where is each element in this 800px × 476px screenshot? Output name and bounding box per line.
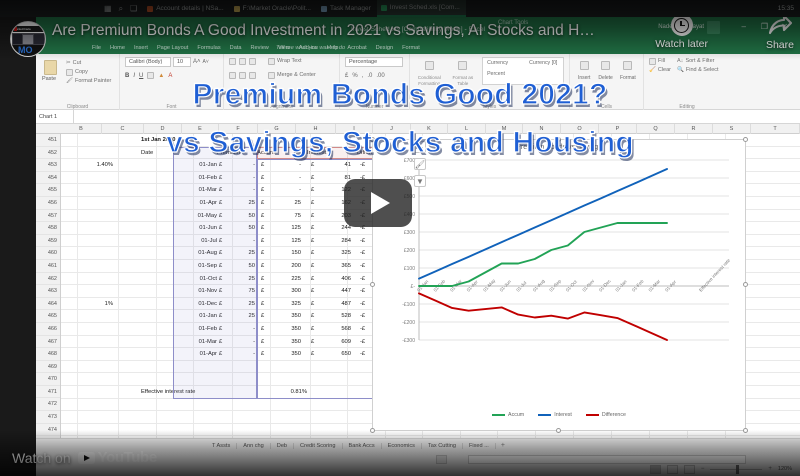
- legend-swatch: [538, 414, 551, 416]
- row-header-455[interactable]: 455: [36, 184, 60, 197]
- chart-y-tick: -£300: [402, 338, 415, 344]
- legend-label: Accum: [508, 412, 524, 418]
- delete-cells-icon[interactable]: [601, 61, 610, 70]
- chart-legend[interactable]: AccumInterestDifference: [373, 412, 745, 418]
- chart-x-tick: 01-May: [482, 278, 497, 293]
- cell-rate-140[interactable]: 1.40%: [79, 159, 113, 172]
- overlay-headline-line2: vs Savings, Stocks and Housing: [0, 126, 800, 160]
- row-header-473[interactable]: 473: [36, 411, 60, 424]
- legend-label: Difference: [602, 412, 626, 418]
- chart-annotation: Effective interest rate: [698, 257, 731, 292]
- selection-range-date-premium: [173, 147, 257, 399]
- insert-cells-icon[interactable]: [580, 61, 589, 70]
- row-header-453[interactable]: 453: [36, 159, 60, 172]
- chart-y-tick: -£200: [402, 320, 415, 326]
- legend-item-interest[interactable]: Interest: [538, 412, 572, 418]
- cell-rate-1[interactable]: 1%: [79, 298, 113, 311]
- chart-canvas: £700£600£500£400£300£200£100£--£100-£200…: [373, 140, 747, 432]
- legend-swatch: [586, 414, 599, 416]
- copy-label: Copy: [75, 68, 88, 77]
- cut-label: Cut: [73, 59, 82, 68]
- row-header-464[interactable]: 464: [36, 298, 60, 311]
- chart-x-tick: 01-Dec: [598, 278, 612, 293]
- chart-y-tick: £200: [404, 248, 415, 254]
- chart-object[interactable]: Premium Bonds vs Savings £700£600£500£40…: [372, 139, 746, 431]
- legend-swatch: [492, 414, 505, 416]
- row-header-465[interactable]: 465: [36, 310, 60, 323]
- row-header-462[interactable]: 462: [36, 273, 60, 286]
- screenshot-stage: Invest Sched.xls [Compatibility Mode] - …: [0, 0, 800, 476]
- legend-item-accum[interactable]: Accum: [492, 412, 524, 418]
- chart-handle-mr[interactable]: [743, 282, 748, 287]
- play-button[interactable]: [344, 179, 412, 227]
- play-triangle-icon: [371, 192, 390, 214]
- chart-y-tick: £-: [411, 284, 416, 290]
- chart-series-difference: [419, 293, 667, 340]
- format-cells-icon[interactable]: [623, 61, 632, 70]
- chart-x-tick: 01-Aug: [532, 278, 546, 293]
- row-header-466[interactable]: 466: [36, 323, 60, 336]
- row-header-459[interactable]: 459: [36, 235, 60, 248]
- chart-filter-icon[interactable]: ▼: [414, 175, 426, 187]
- youtube-top-gradient: [0, 0, 800, 60]
- cut-button[interactable]: ✂Cut: [66, 59, 111, 68]
- row-header-461[interactable]: 461: [36, 260, 60, 273]
- row-header-472[interactable]: 472: [36, 398, 60, 411]
- clear-button[interactable]: 🧹Clear: [649, 66, 671, 75]
- chart-y-tick: £100: [404, 266, 415, 272]
- clear-label: Clear: [658, 66, 671, 75]
- chart-y-tick: -£100: [402, 302, 415, 308]
- chart-x-tick: 01-Nov: [581, 278, 595, 293]
- row-header-454[interactable]: 454: [36, 172, 60, 185]
- style-percent[interactable]: Percent: [487, 71, 505, 77]
- row-header-467[interactable]: 467: [36, 336, 60, 349]
- row-header-468[interactable]: 468: [36, 348, 60, 361]
- row-header-470[interactable]: 470: [36, 373, 60, 386]
- chart-x-tick: 01-Feb: [631, 278, 645, 292]
- find-select-button[interactable]: 🔍Find & Select: [677, 66, 719, 75]
- overlay-headline-line1: Premium Bonds Good 2021?: [0, 78, 800, 112]
- legend-item-difference[interactable]: Difference: [586, 412, 626, 418]
- copy-button[interactable]: Copy: [66, 68, 111, 77]
- row-header-458[interactable]: 458: [36, 222, 60, 235]
- row-header-469[interactable]: 469: [36, 361, 60, 374]
- paste-icon[interactable]: [44, 60, 57, 75]
- copy-icon: [66, 69, 73, 76]
- row-header-471[interactable]: 471: [36, 386, 60, 399]
- row-header-460[interactable]: 460: [36, 247, 60, 260]
- chart-x-tick: 01-Sep: [548, 278, 562, 293]
- youtube-bottom-gradient: [0, 430, 800, 476]
- style-currency[interactable]: Currency: [487, 60, 508, 66]
- chart-y-tick: £300: [404, 230, 415, 236]
- conditional-formatting-icon[interactable]: [425, 61, 434, 70]
- format-as-table-icon[interactable]: [458, 61, 467, 70]
- row-header-456[interactable]: 456: [36, 197, 60, 210]
- legend-label: Interest: [554, 412, 572, 418]
- row-header-457[interactable]: 457: [36, 210, 60, 223]
- style-currency-0[interactable]: Currency [0]: [529, 60, 557, 66]
- chart-x-tick: 01-Mar: [648, 278, 662, 292]
- chart-handle-ml[interactable]: [370, 282, 375, 287]
- row-header-column[interactable]: 4514524534544554564574584594604614624634…: [36, 134, 61, 454]
- formula-bar: Chart 1: [36, 110, 800, 124]
- find-select-label: Find & Select: [686, 66, 719, 75]
- row-header-463[interactable]: 463: [36, 285, 60, 298]
